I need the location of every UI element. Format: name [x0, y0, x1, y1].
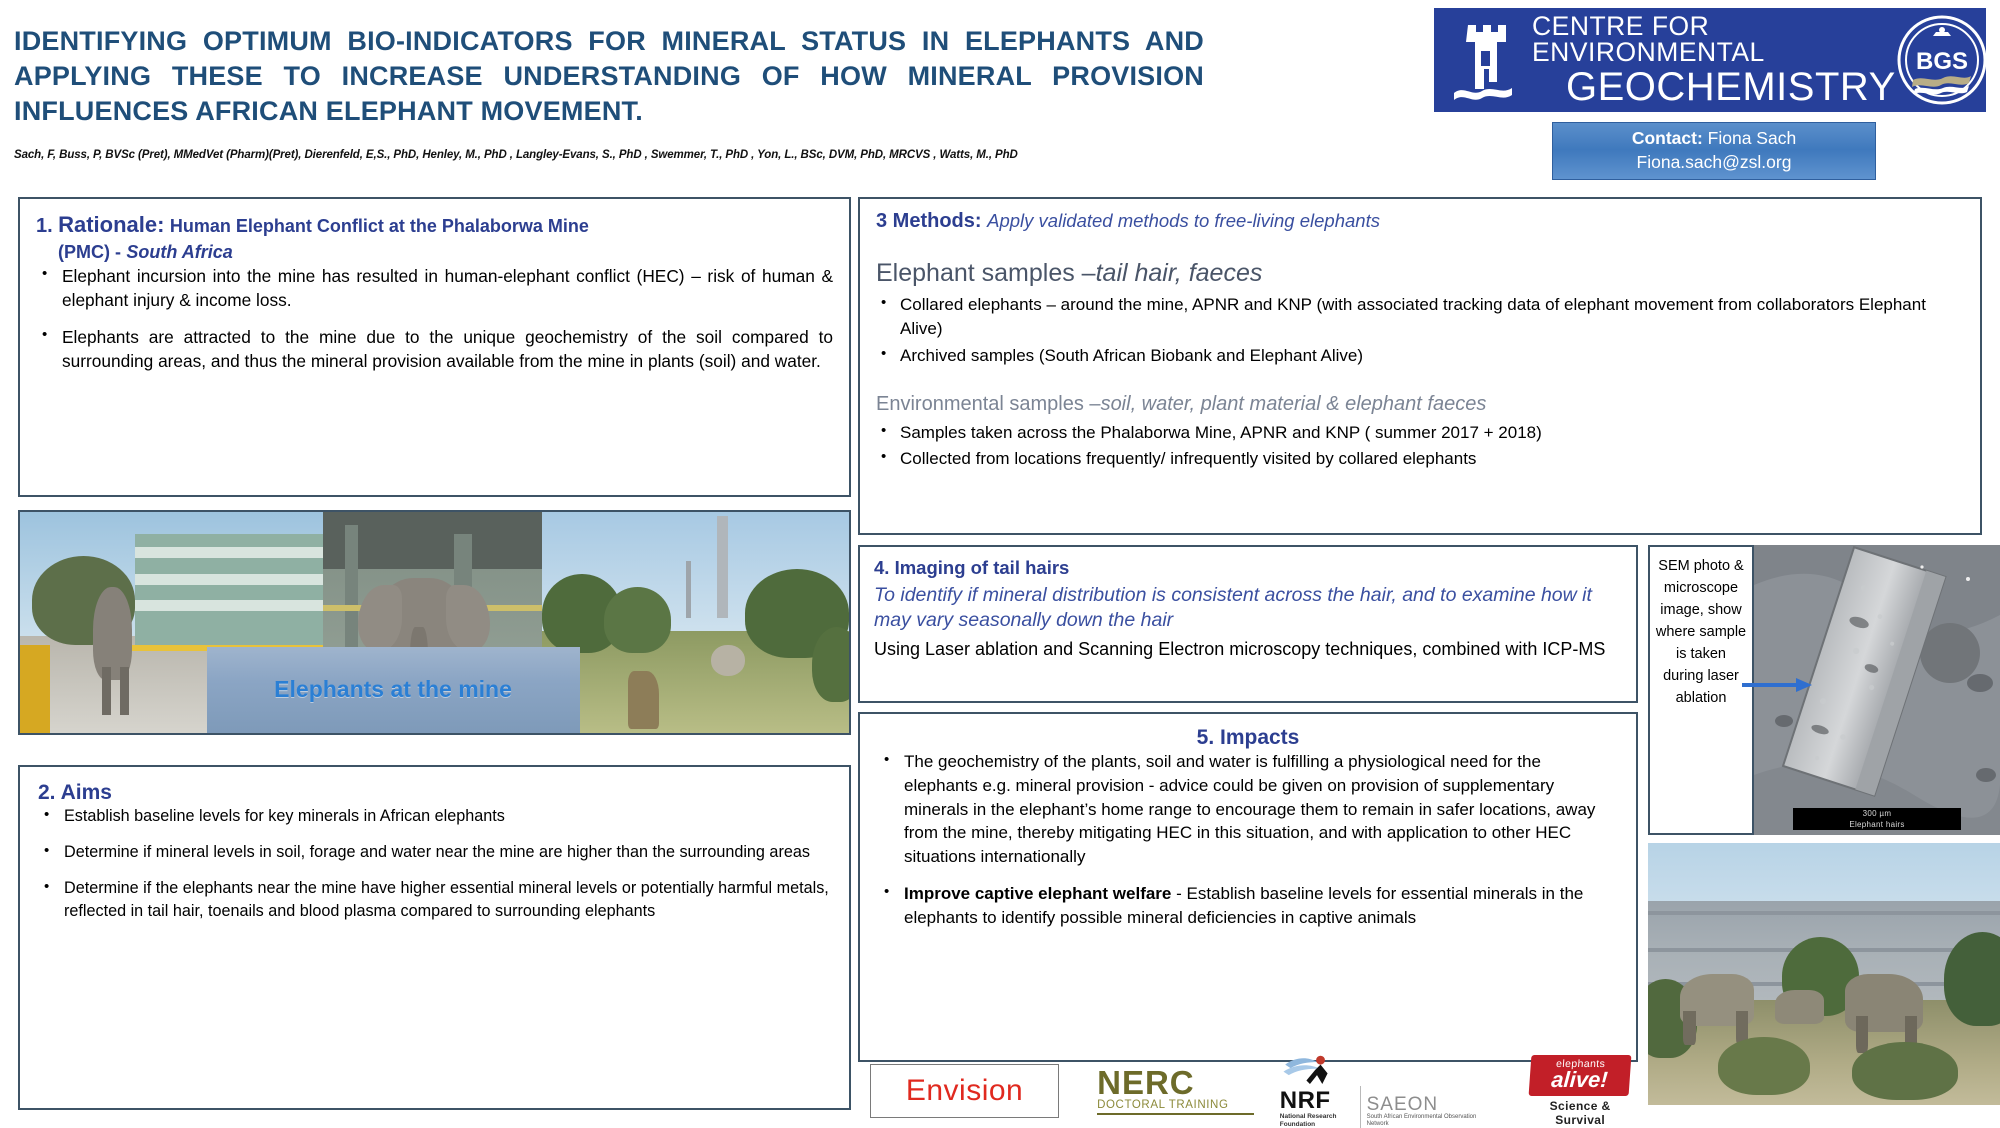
methods-subheading-elephant-samples: Elephant samples –tail hair, faeces — [876, 259, 1964, 288]
logo-nrf-name: NRF — [1280, 1089, 1354, 1113]
bgs-logo-banner: CENTRE FOR ENVIRONMENTAL GEOCHEMISTRY BG… — [1434, 8, 1986, 112]
methods-heading-italic: Apply validated methods to free-living e… — [987, 210, 1380, 231]
rationale-sub-line2a: (PMC) - — [58, 242, 121, 262]
castle-icon — [1448, 17, 1526, 103]
methods-bullets-elephant: Collared elephants – around the mine, AP… — [876, 293, 1964, 369]
list-item: Collared elephants – around the mine, AP… — [876, 293, 1964, 342]
list-item: Samples taken across the Phalaborwa Mine… — [876, 421, 1964, 446]
logo-saeon-sub: South African Environmental Observation … — [1367, 1114, 1481, 1128]
logo-nerc-sub: DOCTORAL TRAINING — [1097, 1099, 1254, 1111]
footer-logos: Envision NERC DOCTORAL TRAINING NRF Nati… — [870, 1062, 1630, 1120]
list-item: Archived samples (South African Biobank … — [876, 344, 1964, 369]
section-rationale: 1. Rationale: Human Elephant Conflict at… — [18, 197, 851, 497]
impacts-bullets: The geochemistry of the plants, soil and… — [878, 750, 1618, 930]
photo-strip-caption: Elephants at the mine — [207, 647, 580, 733]
methods-heading: 3 Methods: Apply validated methods to fr… — [876, 210, 1964, 233]
photo-strip-elephants-at-mine: Elephants at the mine — [18, 510, 851, 735]
methods-sub1-plain: Elephant samples – — [876, 259, 1096, 287]
sem-caption-box: SEM photo & microscope image, show where… — [1648, 545, 1754, 835]
imaging-heading: 4. Imaging of tail hairs — [874, 557, 1622, 579]
logo-nerc: NERC DOCTORAL TRAINING — [1097, 1067, 1254, 1114]
photo-elephants-near-tailings — [1648, 843, 2000, 1105]
contact-name-line: Contact: Fiona Sach — [1553, 127, 1875, 151]
methods-bullets-environmental: Samples taken across the Phalaborwa Mine… — [876, 421, 1964, 472]
logo-saeon-name: SAEON — [1367, 1095, 1481, 1114]
logo-envision-text: Envision — [906, 1074, 1023, 1108]
impacts-heading: 5. Impacts — [878, 726, 1618, 750]
rationale-heading: 1. Rationale: Human Elephant Conflict at… — [36, 211, 833, 265]
sem-scalebar: 300 µm Elephant hairs — [1793, 808, 1960, 830]
rationale-number: 1. — [36, 215, 53, 237]
nrf-figure-icon — [1280, 1054, 1354, 1084]
methods-sub2-plain: Environmental samples – — [876, 393, 1101, 415]
logo-elephants-alive: elephants alive! Science & Survival — [1530, 1055, 1630, 1127]
logo-ea-badge: elephants alive! — [1529, 1055, 1632, 1096]
logo-nerc-name: NERC — [1097, 1067, 1254, 1098]
sem-scalebar-value: 300 µm — [1793, 808, 1960, 819]
methods-subheading-environmental-samples: Environmental samples –soil, water, plan… — [876, 393, 1964, 416]
svg-text:BGS: BGS — [1916, 48, 1968, 75]
logo-wordmark: CENTRE FOR ENVIRONMENTAL GEOCHEMISTRY — [1526, 13, 1896, 108]
contact-name: Fiona Sach — [1708, 128, 1797, 148]
contact-label: Contact: — [1632, 128, 1703, 148]
author-list: Sach, F, Buss, P, BVSc (Pret), MMedVet (… — [14, 149, 1304, 161]
imaging-objective: To identify if mineral distribution is c… — [874, 583, 1622, 633]
methods-sub2-italic: soil, water, plant material & elephant f… — [1101, 393, 1487, 415]
logo-line-1: CENTRE FOR ENVIRONMENTAL — [1532, 13, 1896, 66]
rationale-sub-line2b: South Africa — [126, 242, 232, 262]
logo-nrf-saeon: NRF National Research Foundation SAEON S… — [1280, 1054, 1481, 1128]
list-item: Elephant incursion into the mine has res… — [36, 265, 833, 313]
logo-saeon: SAEON South African Environmental Observ… — [1367, 1095, 1481, 1128]
logo-ea-main: alive! — [1541, 1070, 1618, 1091]
poster-canvas: IDENTIFYING OPTIMUM BIO-INDICATORS FOR M… — [0, 0, 2000, 1125]
list-item: Determine if the elephants near the mine… — [38, 877, 831, 923]
rationale-lead: Rationale: — [58, 212, 164, 237]
section-methods: 3 Methods: Apply validated methods to fr… — [858, 197, 1982, 535]
logo-line-2: GEOCHEMISTRY — [1532, 66, 1896, 108]
rationale-bullets: Elephant incursion into the mine has res… — [36, 265, 833, 373]
list-item: Elephants are attracted to the mine due … — [36, 326, 833, 374]
methods-heading-label: 3 Methods: — [876, 210, 982, 232]
section-impacts: 5. Impacts The geochemistry of the plant… — [858, 712, 1638, 1062]
logo-divider — [1360, 1086, 1361, 1128]
contact-box[interactable]: Contact: Fiona Sach Fiona.sach@zsl.org — [1552, 122, 1876, 180]
impacts-bullet2-bold: Improve captive elephant welfare — [904, 884, 1171, 903]
logo-envision: Envision — [870, 1064, 1059, 1118]
aims-bullets: Establish baseline levels for key minera… — [38, 805, 831, 923]
aims-heading: 2. Aims — [38, 781, 831, 805]
photo-bushveld-smokestack — [542, 512, 849, 733]
list-item: Improve captive elephant welfare - Estab… — [878, 882, 1618, 930]
section-aims: 2. Aims Establish baseline levels for ke… — [18, 765, 851, 1110]
section-imaging-tail-hairs: 4. Imaging of tail hairs To identify if … — [858, 545, 1638, 703]
contact-email[interactable]: Fiona.sach@zsl.org — [1553, 151, 1875, 175]
methods-sub1-italic: tail hair, faeces — [1096, 259, 1263, 287]
arrow-icon — [1742, 678, 1812, 692]
list-item: Establish baseline levels for key minera… — [38, 805, 831, 828]
logo-nrf-sub: National Research Foundation — [1280, 1113, 1354, 1128]
bgs-roundel-icon: BGS — [1896, 14, 1988, 106]
logo-ea-tagline: Science & Survival — [1530, 1099, 1630, 1127]
sem-scalebar-label: Elephant hairs — [1793, 819, 1960, 830]
list-item: The geochemistry of the plants, soil and… — [878, 750, 1618, 869]
logo-nrf: NRF National Research Foundation — [1280, 1054, 1354, 1128]
list-item: Determine if mineral levels in soil, for… — [38, 841, 831, 864]
page-title: IDENTIFYING OPTIMUM BIO-INDICATORS FOR M… — [14, 24, 1204, 129]
imaging-technique: Using Laser ablation and Scanning Electr… — [874, 638, 1622, 661]
rationale-sub-line1: Human Elephant Conflict at the Phalaborw… — [170, 216, 589, 236]
list-item: Collected from locations frequently/ inf… — [876, 447, 1964, 472]
